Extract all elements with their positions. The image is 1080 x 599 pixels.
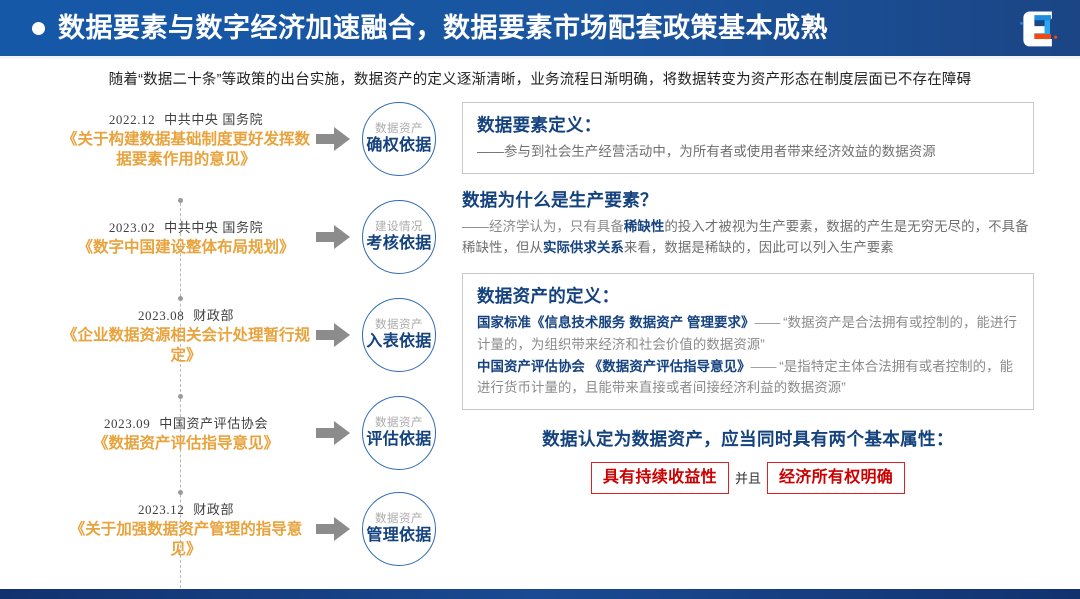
issuer-value: 财政部 [193,308,234,323]
header-divider [0,56,1080,59]
asset-dash-2: —— [751,359,776,374]
right-arrow-icon [310,225,356,249]
why-emphasis-2: 实际供求关系 [543,240,624,255]
timeline-item-text: 2023.02 中共中央 国务院 《数字中国建设整体布局规划》 [62,217,310,258]
date-value: 2023.09 [104,416,150,431]
timeline-badge: 数据资产 确权依据 [362,102,436,176]
badge-subtitle: 建设情况 [375,221,423,234]
conclusion-section: 数据认定为数据资产，应当同时具有两个基本属性： 具有持续收益性 并且 经济所有权… [462,426,1034,494]
attribute-box-1: 具有持续收益性 [591,462,729,494]
right-arrow-icon [310,127,356,151]
attribute-box-2: 经济所有权明确 [767,462,905,494]
bullet-dot-icon [32,22,45,35]
date-value: 2023.02 [109,220,155,235]
why-title: 数据为什么是生产要素？ [462,187,1034,212]
issuer-value: 中共中央 国务院 [164,220,263,235]
asset-source-1: 国家标准《信息技术服务 数据资产 管理要求》 [477,315,754,330]
asset-definition-box: 数据资产的定义： 国家标准《信息技术服务 数据资产 管理要求》—— “数据资产是… [462,273,1034,410]
timeline-item-text: 2023.08 财政部 《企业数据资源相关会计处理暂行规定》 [62,305,310,366]
timeline-item-date: 2023.02 中共中央 国务院 [62,217,310,236]
date-value: 2023.08 [138,308,184,323]
timeline-item-text: 2023.09 中国资产评估协会 《数据资产评估指导意见》 [62,413,310,454]
page-title: 数据要素与数字经济加速融合，数据要素市场配套政策基本成熟 [58,15,828,42]
badge-title: 评估依据 [366,431,431,449]
timeline-item-document: 《关于构建数据基础制度更好发挥数据要素作用的意见》 [62,130,310,170]
badge-title: 考核依据 [366,235,431,253]
definition-title: 数据要素定义： [477,112,1021,137]
issuer-value: 财政部 [193,502,234,517]
policy-timeline: 2022.12 中共中央 国务院 《关于构建数据基础制度更好发挥数据要素作用的意… [62,102,452,582]
slide: 数据要素与数字经济加速融合，数据要素市场配套政策基本成熟 随着“数据二十条”等政… [0,0,1080,599]
timeline-item-date: 2023.12 财政部 [62,499,310,518]
why-section: 数据为什么是生产要素？ ——经济学认为，只有具备稀缺性的投入才被视为生产要素，数… [462,187,1034,259]
why-body: ——经济学认为，只有具备稀缺性的投入才被视为生产要素，数据的产生是无穷无尽的，不… [462,216,1034,259]
right-content-panel: 数据要素定义： ——参与到社会生产经营活动中，为所有者或使用者带来经济效益的数据… [462,102,1034,494]
badge-title: 确权依据 [366,137,431,155]
timeline-item-date: 2023.08 财政部 [62,305,310,324]
slide-footer-bar [0,589,1080,599]
why-lead: ——经济学认为，只有具备 [462,219,624,234]
asset-source-2: 中国资产评估协会 《数据资产评估指导意见》 [477,359,751,374]
timeline-item: 2023.12 财政部 《关于加强数据资产管理的指导意见》 数据资产 管理依据 [62,492,452,566]
timeline-item: 2023.02 中共中央 国务院 《数字中国建设整体布局规划》 建设情况 考核依… [62,200,452,274]
issuer-value: 中国资产评估协会 [159,416,268,431]
timeline-item-document: 《关于加强数据资产管理的指导意见》 [62,520,310,560]
timeline-item-document: 《数字中国建设整体布局规划》 [62,238,310,258]
badge-subtitle: 数据资产 [375,319,423,332]
company-g-logo-icon [1016,5,1062,51]
why-tail: 来看，数据是稀缺的，因此可以列入生产要素 [624,240,894,255]
timeline-item-document: 《数据资产评估指导意见》 [62,434,310,454]
badge-title: 管理依据 [366,527,431,545]
conclusion-attributes-row: 具有持续收益性 并且 经济所有权明确 [462,462,1034,494]
timeline-item-date: 2022.12 中共中央 国务院 [62,109,310,128]
timeline-item-text: 2022.12 中共中央 国务院 《关于构建数据基础制度更好发挥数据要素作用的意… [62,109,310,170]
right-arrow-icon [310,323,356,347]
timeline-item: 2022.12 中共中央 国务院 《关于构建数据基础制度更好发挥数据要素作用的意… [62,102,452,176]
right-arrow-icon [310,517,356,541]
timeline-item: 2023.09 中国资产评估协会 《数据资产评估指导意见》 数据资产 评估依据 [62,396,452,470]
date-value: 2022.12 [109,112,155,127]
timeline-badge: 数据资产 评估依据 [362,396,436,470]
date-value: 2023.12 [138,502,184,517]
badge-title: 入表依据 [366,333,431,351]
why-emphasis-1: 稀缺性 [624,219,664,234]
issuer-value: 中共中央 国务院 [164,112,263,127]
slide-header: 数据要素与数字经济加速融合，数据要素市场配套政策基本成熟 [0,0,1080,56]
asset-body-1: 国家标准《信息技术服务 数据资产 管理要求》—— “数据资产是合法拥有或控制的，… [477,312,1021,355]
timeline-item-text: 2023.12 财政部 《关于加强数据资产管理的指导意见》 [62,499,310,560]
badge-subtitle: 数据资产 [375,417,423,430]
asset-title: 数据资产的定义： [477,283,1021,308]
timeline-item: 2023.08 财政部 《企业数据资源相关会计处理暂行规定》 数据资产 入表依据 [62,298,452,372]
attribute-connector: 并且 [735,468,761,487]
timeline-badge: 建设情况 考核依据 [362,200,436,274]
timeline-item-date: 2023.09 中国资产评估协会 [62,413,310,432]
intro-text: 随着“数据二十条”等政策的出台实施，数据资产的定义逐渐清晰，业务流程日渐明确，将… [0,68,1080,89]
right-arrow-icon [310,421,356,445]
definition-box: 数据要素定义： ——参与到社会生产经营活动中，为所有者或使用者带来经济效益的数据… [462,102,1034,174]
timeline-badge: 数据资产 入表依据 [362,298,436,372]
badge-subtitle: 数据资产 [375,513,423,526]
conclusion-title: 数据认定为数据资产，应当同时具有两个基本属性： [462,426,1034,451]
timeline-badge: 数据资产 管理依据 [362,492,436,566]
asset-dash-1: —— [754,315,779,330]
definition-body: ——参与到社会生产经营活动中，为所有者或使用者带来经济效益的数据资源 [477,141,1021,163]
badge-subtitle: 数据资产 [375,123,423,136]
timeline-item-document: 《企业数据资源相关会计处理暂行规定》 [62,326,310,366]
asset-body-2: 中国资产评估协会 《数据资产评估指导意见》—— “是指特定主体合法拥有或者控制的… [477,356,1021,399]
